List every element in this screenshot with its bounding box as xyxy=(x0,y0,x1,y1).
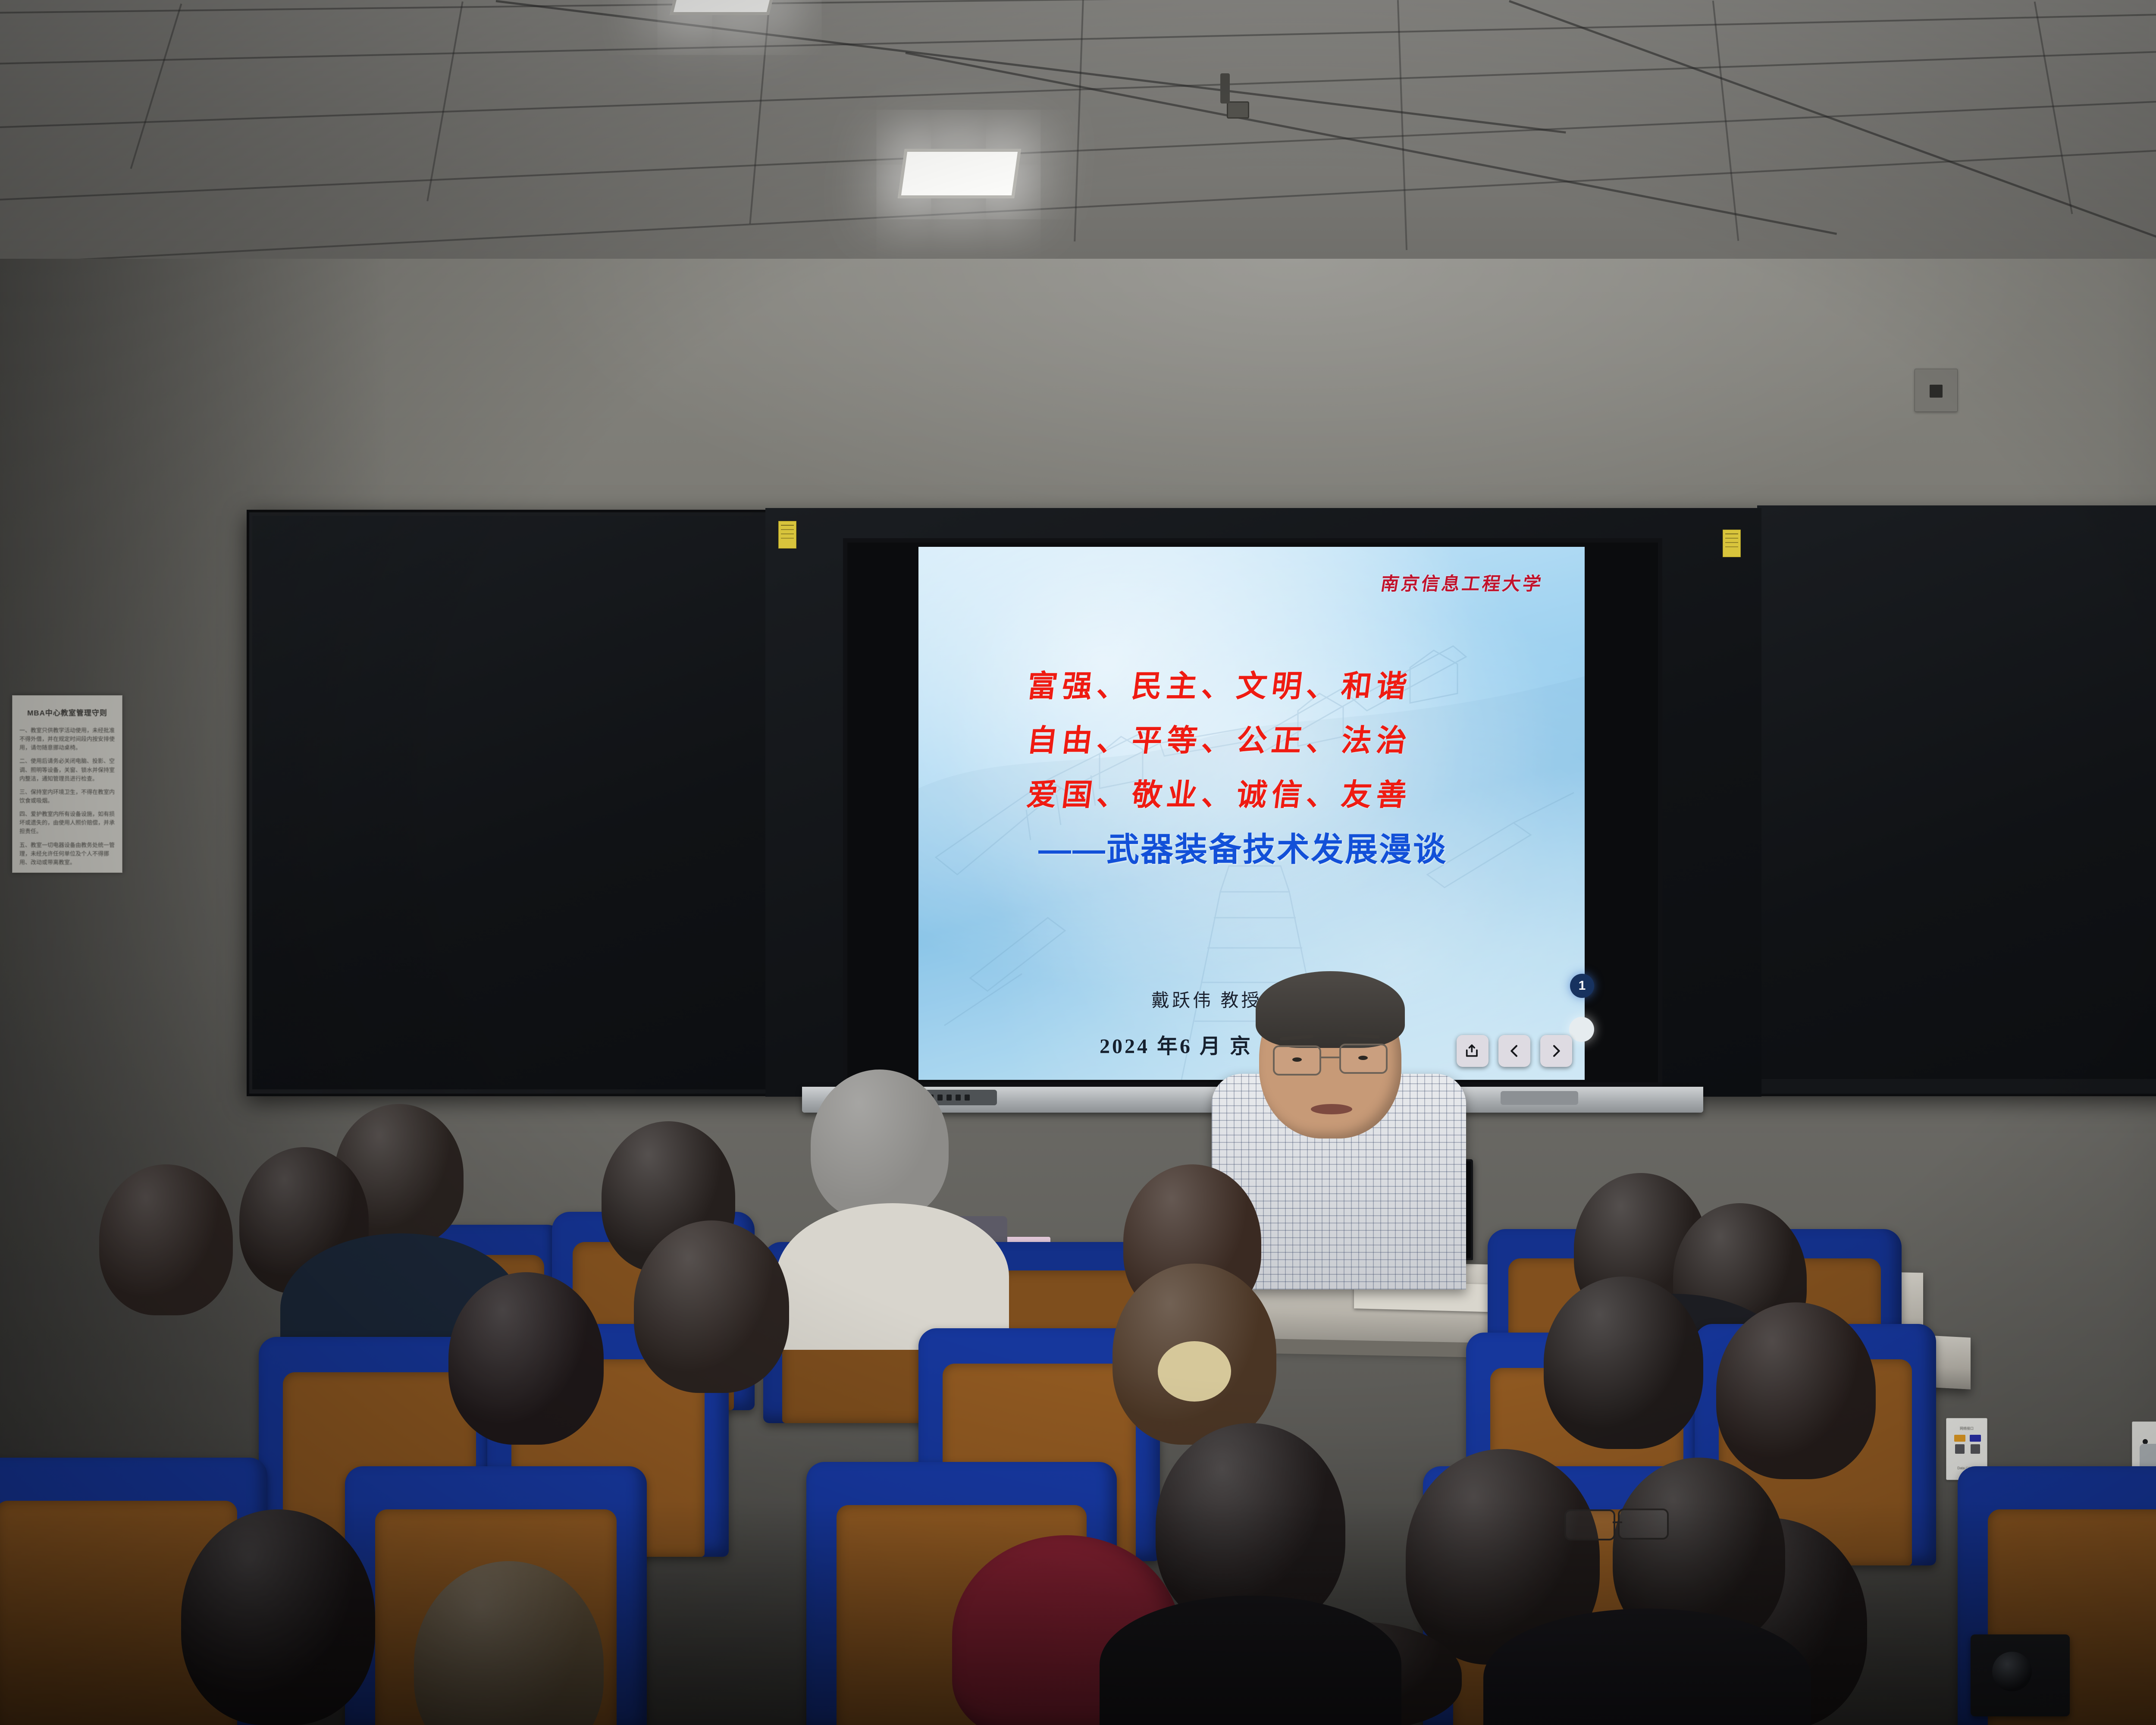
university-mark: 南京信息工程大学 xyxy=(1379,569,1545,596)
notice-line: 五、教室一切电器设备由教务处统一管理，未经允许任何单位及个人不得挪用、改动或带离… xyxy=(19,841,115,867)
presentation-slide[interactable]: 南京信息工程大学 富强、民主、文明、和谐 自由、平等、公正、法治 爱国、敬业、诚… xyxy=(918,547,1585,1080)
interactive-display[interactable]: 南京信息工程大学 富强、民主、文明、和谐 自由、平等、公正、法治 爱国、敬业、诚… xyxy=(843,538,1662,1087)
data-port-blue xyxy=(1970,1435,1981,1442)
presenter-name: 戴跃伟 教授 xyxy=(1151,986,1262,1012)
core-values-block: 富强、民主、文明、和谐 自由、平等、公正、法治 爱国、敬业、诚信、友善 xyxy=(1027,660,1411,823)
core-values-line: 爱国、敬业、诚信、友善 xyxy=(1024,768,1414,823)
speaker-mouth xyxy=(1311,1104,1352,1114)
chevron-right-icon xyxy=(1548,1042,1565,1060)
core-values-line: 富强、民主、文明、和谐 xyxy=(1024,660,1414,714)
speaker-eye xyxy=(1358,1056,1368,1060)
bezel-key[interactable] xyxy=(946,1095,952,1101)
ceiling xyxy=(0,0,2156,276)
data-jack-label: 网络接口 xyxy=(1946,1426,1987,1431)
notice-line: 一、教室只供教学活动使用，未经批准不得外借，并在规定时间段内按安排使用，请勿随意… xyxy=(19,726,115,752)
data-port-orange xyxy=(1954,1435,1965,1442)
display-logo-plate xyxy=(1501,1091,1578,1105)
cursor-dot xyxy=(1569,1017,1594,1042)
previous-slide-button[interactable] xyxy=(1498,1035,1530,1067)
ceiling-mount xyxy=(1220,73,1230,103)
speaker-hair xyxy=(1256,971,1405,1048)
share-button[interactable] xyxy=(1457,1035,1489,1067)
slide-number-badge: 1 xyxy=(1570,974,1594,998)
next-slide-button[interactable] xyxy=(1540,1035,1572,1067)
notice-line: 四、爱护教室内所有设备设施，如有损坏或遗失的，由使用人照价赔偿，并承担责任。 xyxy=(19,810,115,836)
ceiling-light-panel xyxy=(898,149,1021,198)
classroom-rules-notice: MBA中心教室管理守则 一、教室只供教学活动使用，未经批准不得外借，并在规定时间… xyxy=(12,695,122,873)
board-corner-sticker xyxy=(1723,530,1741,557)
slide-subtitle: ——武器装备技术发展漫谈 xyxy=(1038,823,1447,870)
speaker-eye xyxy=(1292,1057,1302,1062)
notice-line: 二、使用后请务必关闭电脑、投影、空调、照明等设备，关窗、锁水并保持室内整洁，通知… xyxy=(19,757,115,783)
notice-line: 三、保持室内环境卫生，不得在教室内饮食或吸烟。 xyxy=(19,788,115,805)
audience-head-gray xyxy=(811,1069,949,1220)
audience-head xyxy=(99,1164,233,1315)
audience-head xyxy=(1544,1276,1703,1449)
audience-head xyxy=(634,1220,789,1393)
audience-head xyxy=(1716,1302,1876,1479)
blackboard-right-panel xyxy=(1757,505,2156,1079)
bezel-key[interactable] xyxy=(965,1095,970,1101)
bezel-key[interactable] xyxy=(937,1095,943,1101)
chevron-left-icon xyxy=(1506,1042,1523,1060)
share-icon xyxy=(1464,1042,1481,1060)
lecture-hall-photo: MBA中心教室管理守则 一、教室只供教学活动使用，未经批准不得外借，并在规定时间… xyxy=(0,0,2156,1725)
ceiling-speaker xyxy=(1227,101,1249,119)
slide-date: 2024 年6 月 京 xyxy=(1100,1029,1253,1059)
audience-head xyxy=(448,1272,604,1445)
bezel-key[interactable] xyxy=(956,1095,961,1101)
core-values-line: 自由、平等、公正、法治 xyxy=(1024,714,1414,768)
ceiling-light-panel xyxy=(670,0,779,15)
blackboard-left-panel xyxy=(252,516,765,1089)
hair-bun xyxy=(1158,1341,1231,1402)
speaker-glasses-bridge xyxy=(1320,1057,1341,1058)
jack-socket[interactable] xyxy=(1955,1444,1965,1454)
jack-socket[interactable] xyxy=(1971,1444,1980,1454)
foreground-shadow xyxy=(0,1501,2156,1725)
board-corner-sticker xyxy=(778,521,796,549)
notice-title: MBA中心教室管理守则 xyxy=(19,707,115,718)
audience-shoulders xyxy=(776,1203,1009,1350)
wall-sensor-plate xyxy=(1915,369,1958,412)
